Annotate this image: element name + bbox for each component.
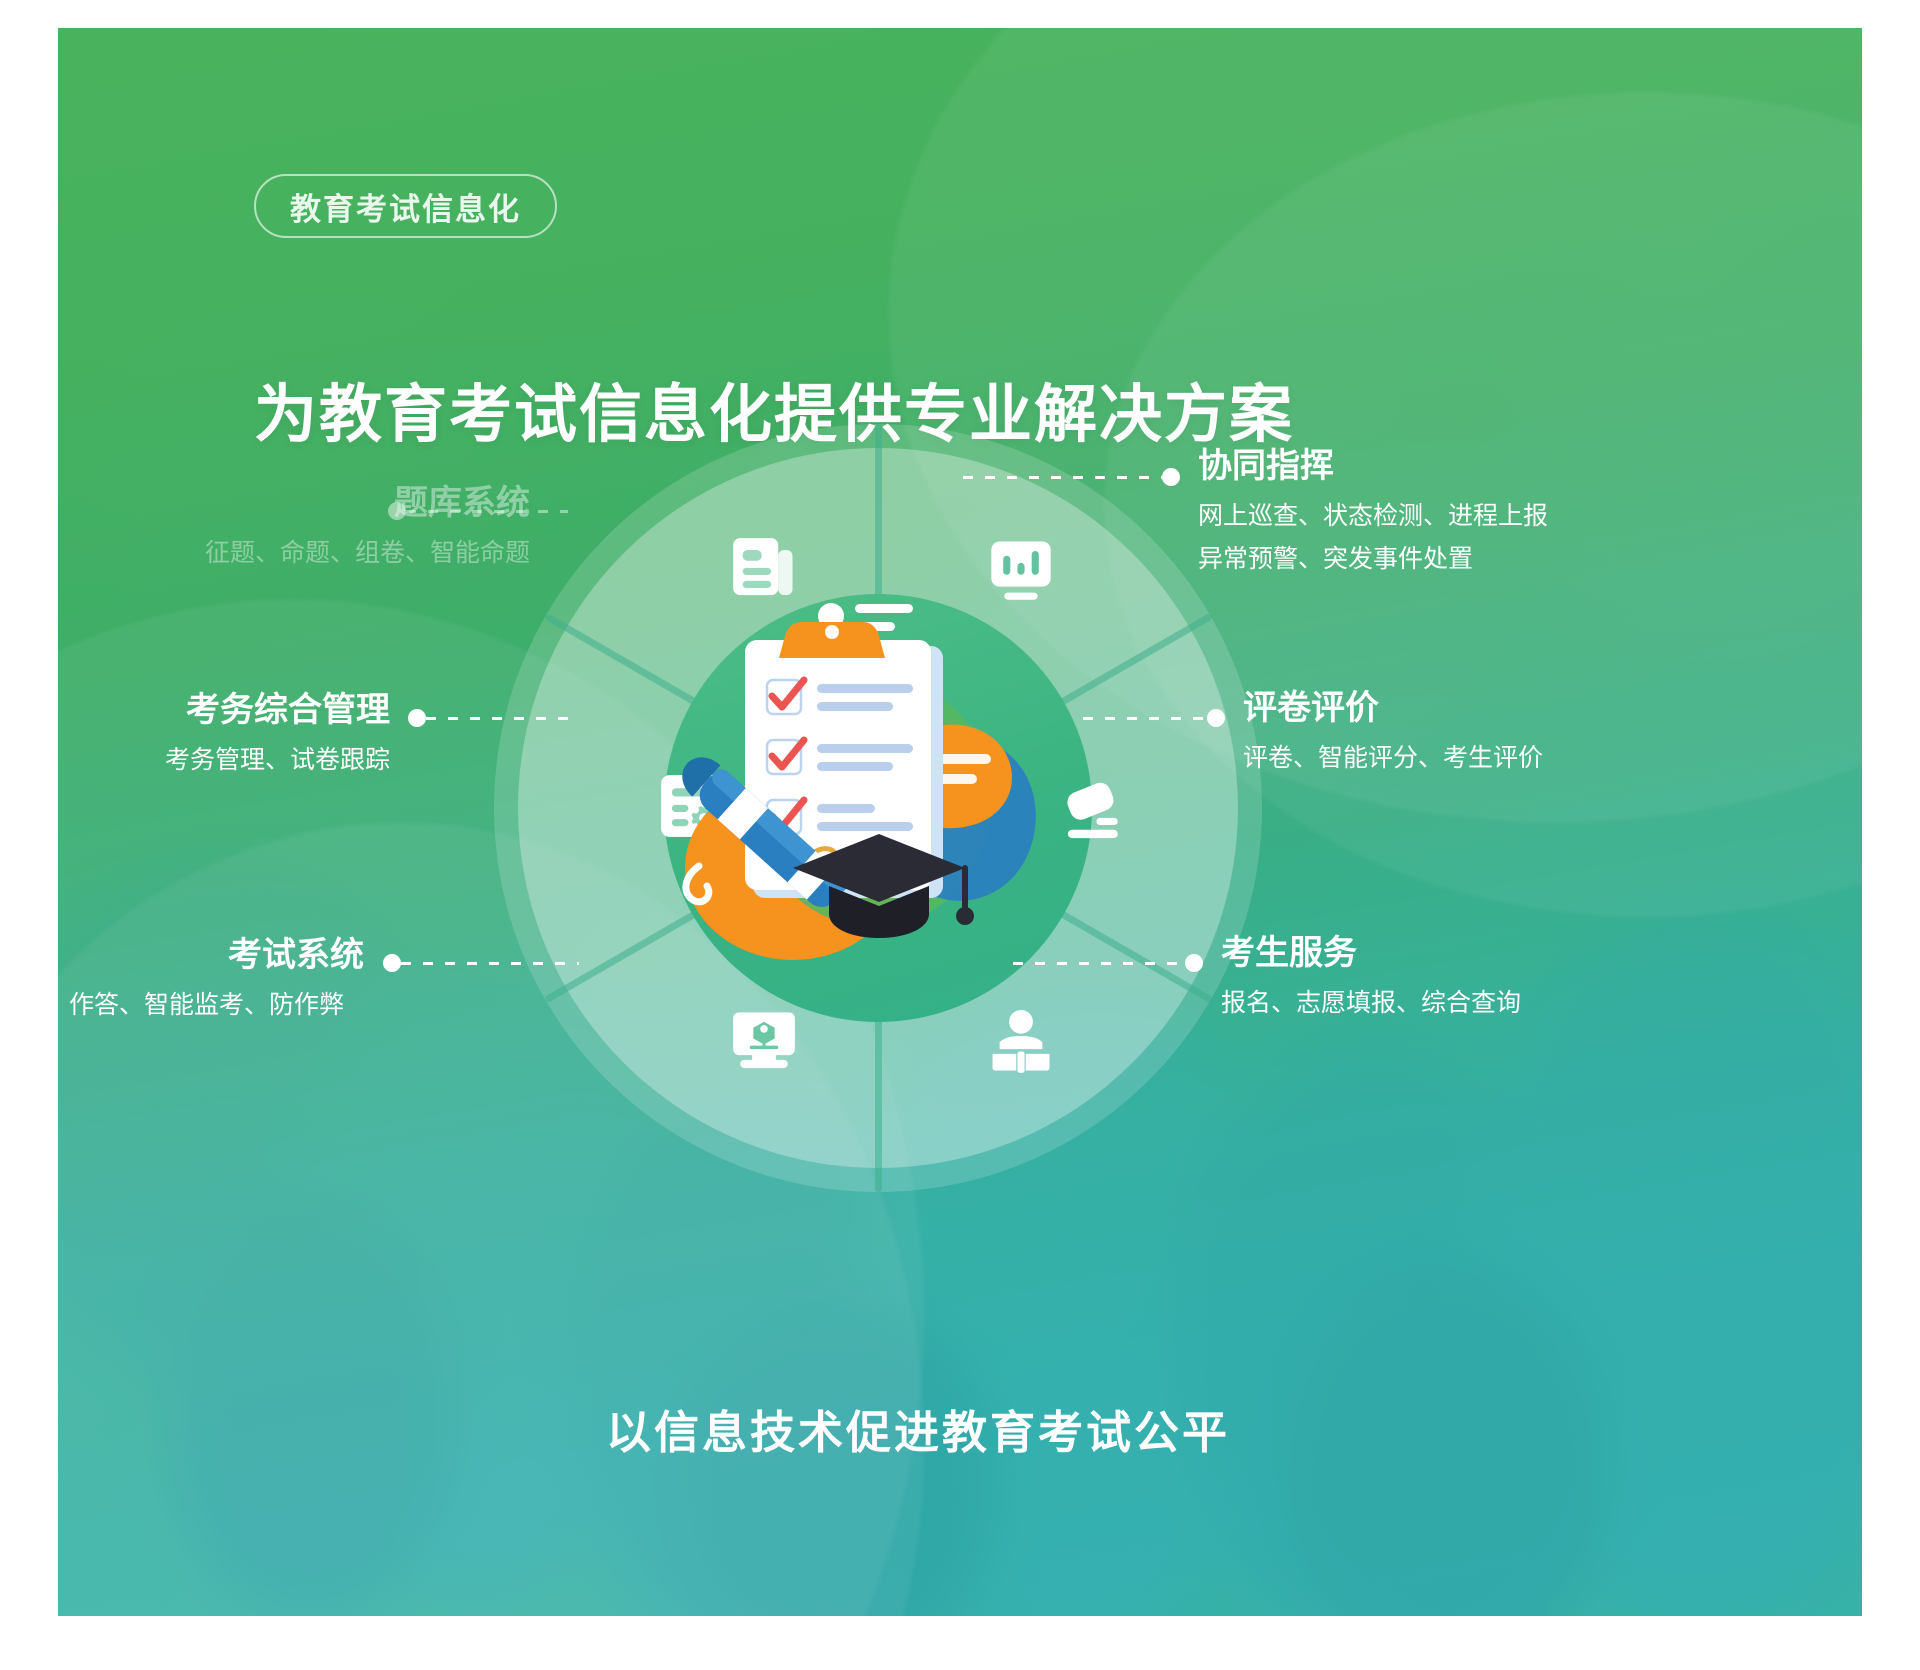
connector-exam-affairs — [408, 709, 568, 727]
callout-desc: 报名、志愿填报、综合查询 — [1221, 984, 1521, 1023]
hero-banner: 教育考试信息化 为教育考试信息化提供专业解决方案 — [58, 28, 1862, 1616]
callout-question-bank[interactable]: 题库系统 征题、命题、组卷、智能命题 — [200, 485, 530, 573]
callout-title: 考务综合管理 — [158, 692, 390, 729]
connector-dash — [401, 962, 579, 965]
connector-dot — [1207, 709, 1225, 727]
category-badge: 教育考试信息化 — [254, 174, 557, 238]
connector-dash — [426, 717, 568, 720]
callout-title: 协同指挥 — [1198, 448, 1548, 485]
connector-dot — [383, 954, 401, 972]
connector-dash — [1083, 717, 1207, 720]
connector-dot — [408, 709, 426, 727]
callout-desc: 考务管理、试卷跟踪 — [158, 741, 390, 780]
callout-title: 考生服务 — [1221, 935, 1521, 972]
callout-title: 考试系统 — [196, 937, 364, 974]
callout-desc: 评卷、智能评分、考生评价 — [1243, 739, 1543, 778]
connector-dot — [1185, 954, 1203, 972]
callout-desc-line1: 网上巡查、状态检测、进程上报 — [1198, 497, 1548, 536]
callout-desc: 身份认证、作答、智能监考、防作弊 — [58, 986, 364, 1025]
callout-marking-evaluation[interactable]: 评卷评价 评卷、智能评分、考生评价 — [1243, 690, 1543, 778]
callout-candidate-services[interactable]: 考生服务 报名、志愿填报、综合查询 — [1221, 935, 1521, 1023]
connector-candidate-services — [1013, 954, 1203, 972]
connector-dot — [1162, 468, 1180, 486]
connector-exam-system — [383, 954, 579, 972]
callout-title: 题库系统 — [200, 485, 530, 522]
connector-dash — [1013, 962, 1185, 965]
connector-collaborative-command — [963, 468, 1180, 486]
callout-desc-line2: 异常预警、突发事件处置 — [1198, 540, 1548, 579]
callout-exam-affairs[interactable]: 考务综合管理 考务管理、试卷跟踪 — [158, 692, 390, 780]
callout-collaborative-command[interactable]: 协同指挥 网上巡查、状态检测、进程上报 异常预警、突发事件处置 — [1198, 448, 1548, 579]
banner-stage: 教育考试信息化 为教育考试信息化提供专业解决方案 — [0, 0, 1920, 1670]
callout-exam-system[interactable]: 考试系统 身份认证、作答、智能监考、防作弊 — [196, 937, 364, 1025]
bottom-tagline: 以信息技术促进教育考试公平 — [598, 1396, 1238, 1461]
callout-desc: 征题、命题、组卷、智能命题 — [200, 534, 530, 573]
connector-marking-evaluation — [1083, 709, 1225, 727]
callout-title: 评卷评价 — [1243, 690, 1543, 727]
category-badge-label: 教育考试信息化 — [290, 184, 521, 229]
connector-dash — [963, 476, 1162, 479]
